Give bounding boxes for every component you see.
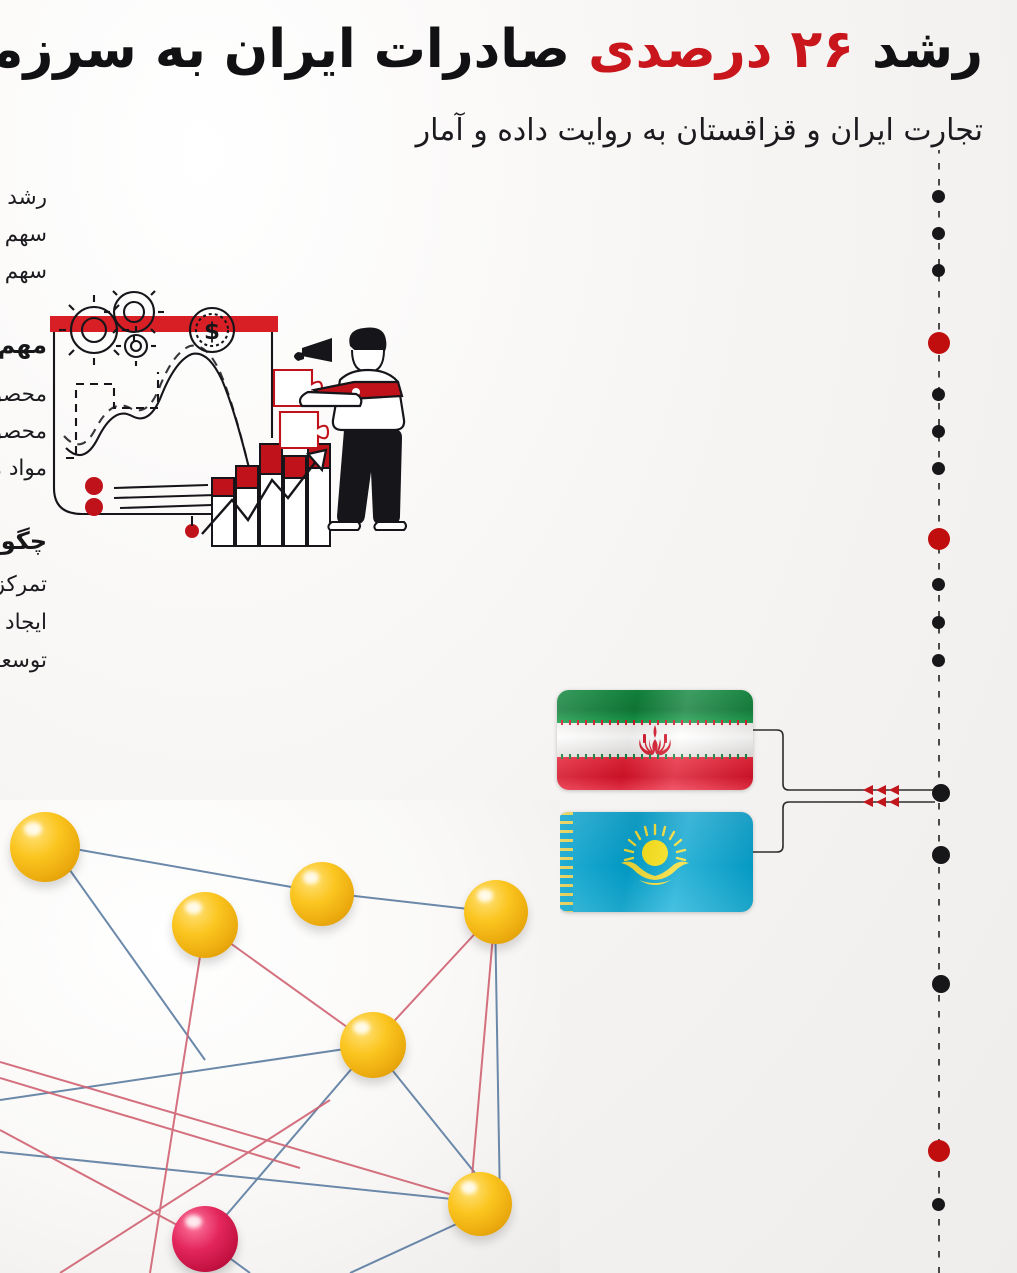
- stat-row-3: سهم صادرات ایران به قزاقستان از کل واردا…: [0, 259, 47, 285]
- iran-flag-kufic-top: [557, 720, 753, 725]
- network-node: [340, 1012, 406, 1078]
- svg-text:$: $: [204, 319, 220, 345]
- kazakhstan-sun-eagle-icon: [609, 823, 701, 893]
- flag-connectors: [745, 680, 945, 900]
- iran-flag-kufic-bottom: [557, 754, 753, 759]
- kazakhstan-flag: [557, 812, 753, 912]
- bullet-section-2-item-3: [932, 654, 945, 667]
- bullet-flag-kazakhstan: [932, 846, 950, 864]
- network-node: [448, 1172, 512, 1236]
- network-node-highlighted: [172, 1206, 238, 1272]
- bullet-stat-1: [932, 190, 945, 203]
- network-node: [172, 892, 238, 958]
- network-node: [10, 812, 80, 882]
- stat-row-2: سهم صادرات ایران به قزاقستان از کل صادرا…: [0, 222, 47, 248]
- bullet-flag-iran: [932, 784, 950, 802]
- bullet-source-item: [932, 1198, 945, 1211]
- title-part-1: رشد: [854, 19, 983, 80]
- page-subtitle: تجارت ایران و قزاقستان به روایت داده و آ…: [416, 113, 983, 148]
- infographic-page: رشد ۲۶ درصدی صادرات ایران به سرزمین اورا…: [0, 0, 1017, 1273]
- bullet-stat-2: [932, 227, 945, 240]
- iran-flag-green-band: [557, 690, 753, 723]
- stat-text-3: سهم صادرات ایران به قزاقستان از کل واردا…: [0, 259, 47, 284]
- stat-text-1: رشد صادرات طی یک سال گذشته: [0, 185, 47, 210]
- page-title: رشد ۲۶ درصدی صادرات ایران به سرزمین اورا…: [53, 22, 983, 78]
- section-2-item-2: ایجاد انبار و شبکه توزیع مشترک در شهرهای…: [0, 610, 47, 635]
- network-node: [464, 880, 528, 944]
- section-2-item-1: تمرکز بر صادرات کالاهای سنگین و پرهزینه …: [0, 572, 47, 597]
- bullet-section-1-item-1: [932, 388, 945, 401]
- bullet-stat-3: [932, 264, 945, 277]
- bullet-source-heading: [928, 1140, 950, 1162]
- bullet-footnote: [932, 975, 950, 993]
- bullet-section-2-item-1: [932, 578, 945, 591]
- network-node: [290, 862, 354, 926]
- title-highlight: ۲۶ درصدی: [588, 19, 854, 80]
- bullet-section-1-item-3: [932, 462, 945, 475]
- bullet-section-2-item-2: [932, 616, 945, 629]
- section-2-item-3: توسعه پیمان پولی محلی ریال-تنگه و تسویه …: [0, 648, 47, 673]
- bullet-section-1-item-2: [932, 425, 945, 438]
- network-photo: [0, 800, 560, 1273]
- title-part-2: صادرات ایران به سرزمین اورانیوم: [0, 19, 588, 80]
- iran-flag-red-band: [557, 757, 753, 790]
- bullet-section-2: [928, 528, 950, 550]
- iran-flag: [557, 690, 753, 790]
- iran-emblem-icon: [635, 722, 675, 758]
- stat-text-2: سهم صادرات ایران به قزاقستان از کل صادرا…: [0, 222, 47, 247]
- stat-row-1: رشد صادرات طی یک سال گذشته ۲۶٫۸ درصد: [0, 185, 47, 211]
- business-analytics-illustration: $: [36, 288, 426, 568]
- bullet-section-1: [928, 332, 950, 354]
